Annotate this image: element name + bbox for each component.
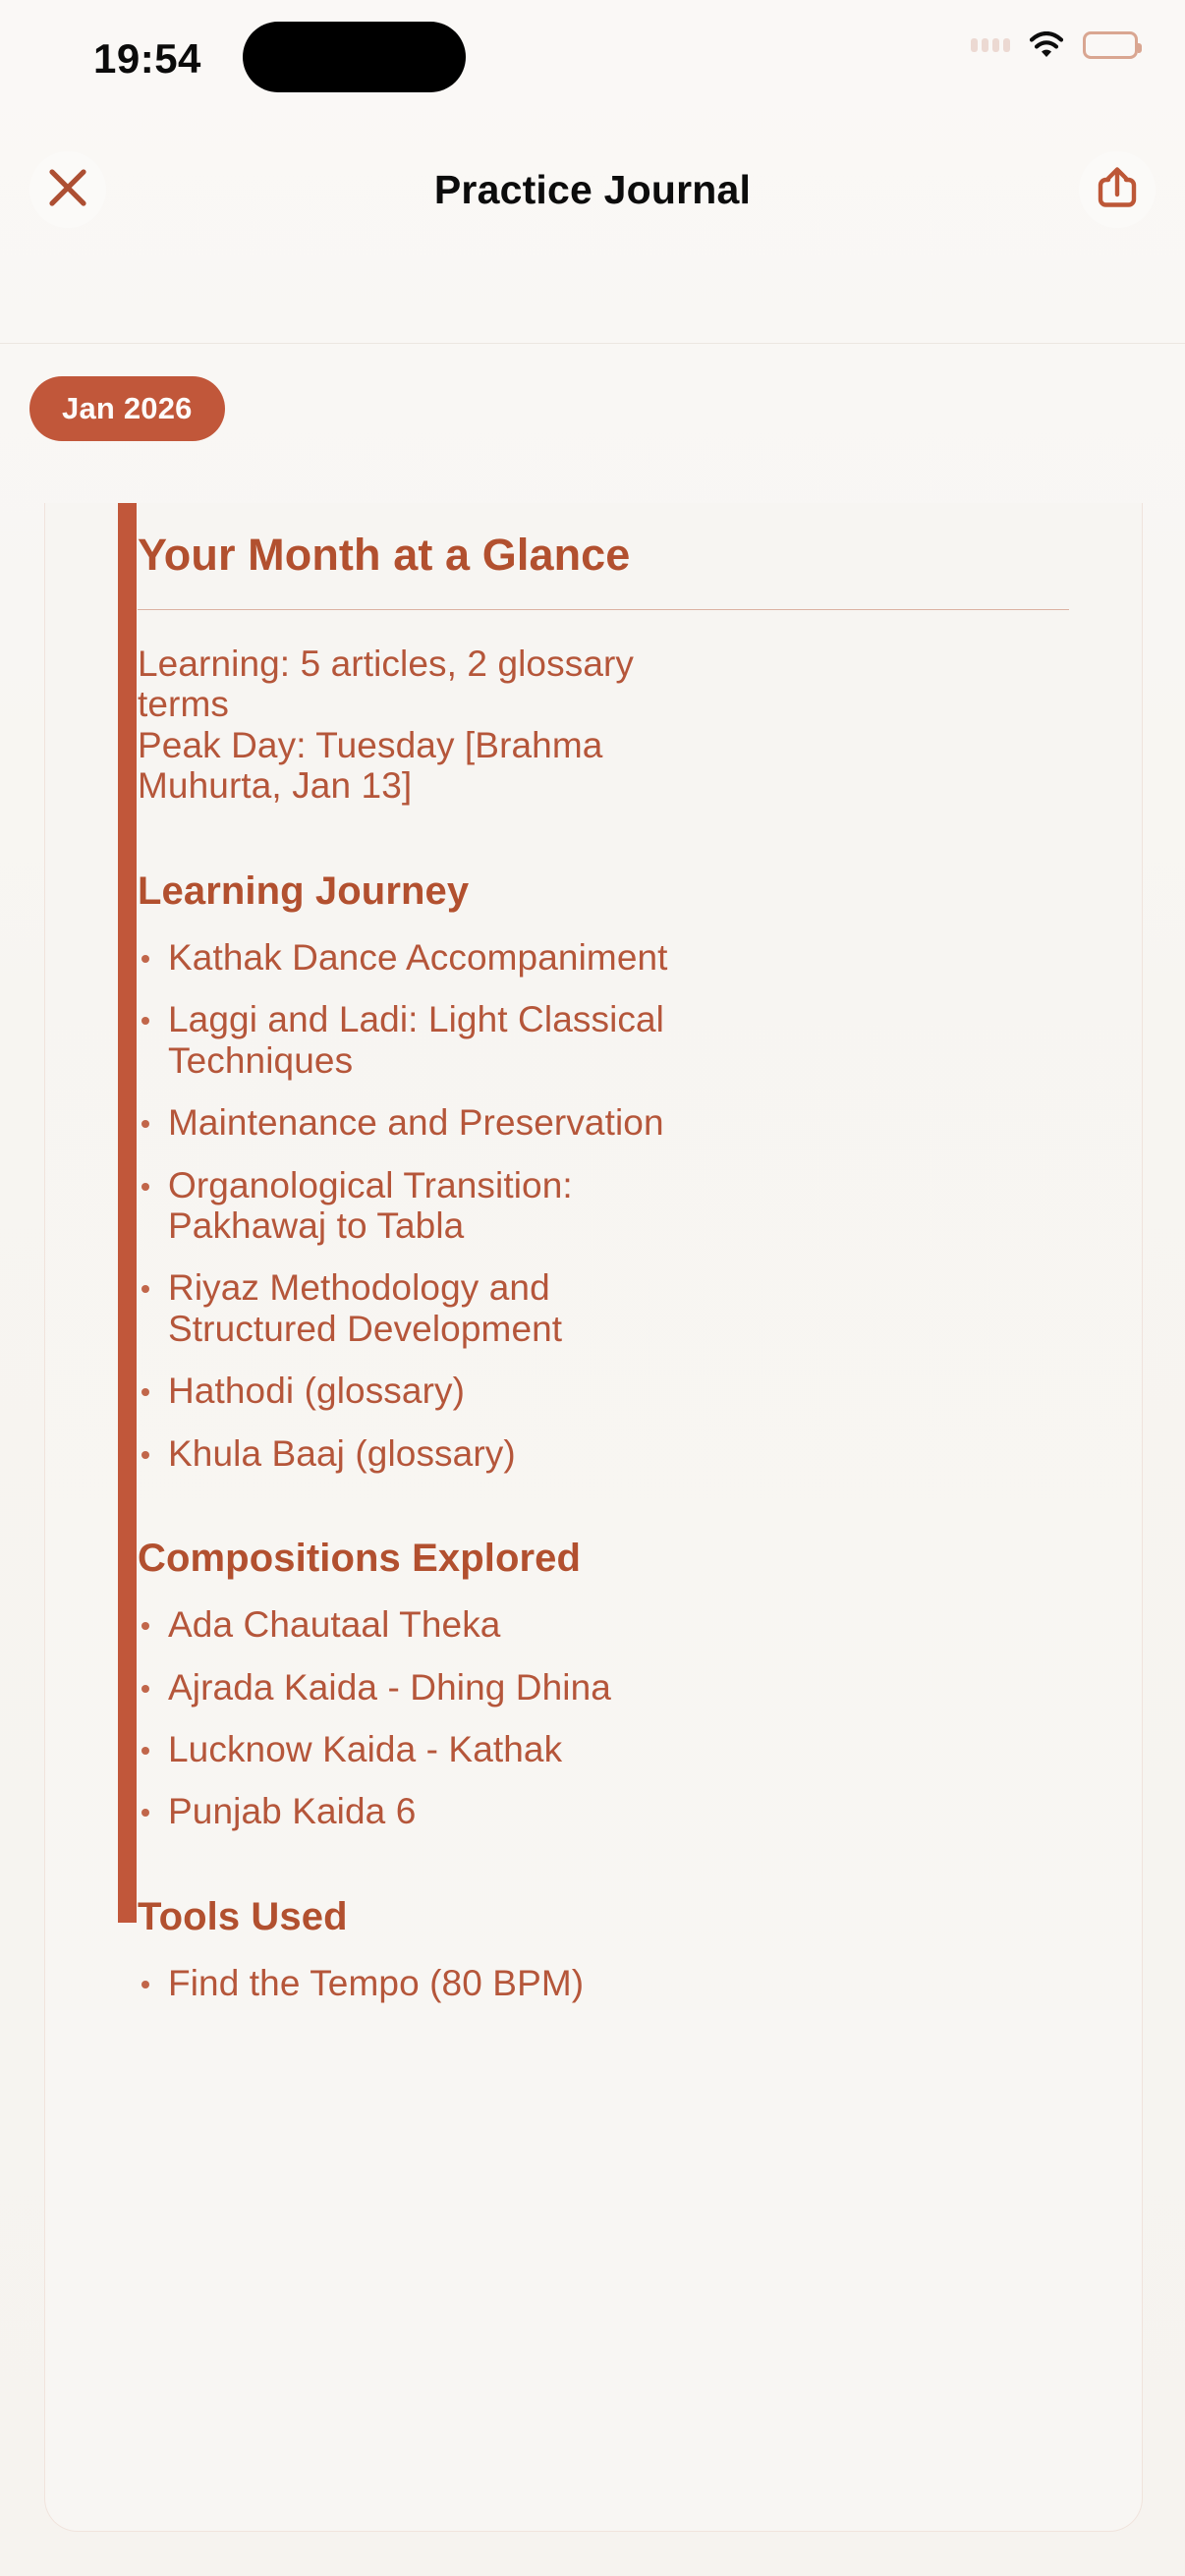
list-item[interactable]: Hathodi (glossary) (138, 1371, 668, 1411)
wifi-icon (1029, 31, 1064, 59)
list-item[interactable]: Ajrada Kaida - Dhing Dhina (138, 1667, 668, 1708)
card-meta-learning: Learning: 5 articles, 2 glossary terms (138, 644, 673, 725)
list-item[interactable]: Ada Chautaal Theka (138, 1604, 668, 1645)
journal-scroll-area[interactable]: Your Month at a Glance Learning: 5 artic… (0, 503, 1185, 2576)
app-header: Practice Journal (0, 116, 1185, 344)
list-item[interactable]: Find the Tempo (80 BPM) (138, 1963, 668, 2003)
status-indicators (971, 31, 1138, 59)
dynamic-island (243, 22, 466, 92)
signal-dots-icon (971, 38, 1010, 52)
phone-screen: 19:54 Practice Journal (0, 0, 1185, 2576)
list-item[interactable]: Punjab Kaida 6 (138, 1791, 668, 1831)
list-item[interactable]: Riyaz Methodology and Structured Develop… (138, 1267, 668, 1349)
card-accent-bar (118, 503, 137, 1923)
status-time: 19:54 (93, 35, 201, 83)
list-item[interactable]: Organological Transition: Pakhawaj to Ta… (138, 1165, 668, 1247)
list-item[interactable]: Laggi and Ladi: Light Classical Techniqu… (138, 999, 668, 1081)
list-compositions-explored: Ada Chautaal Theka Ajrada Kaida - Dhing … (138, 1604, 1099, 1832)
month-filter-row: Jan 2026 (0, 376, 1185, 445)
status-bar: 19:54 (0, 0, 1185, 116)
list-item[interactable]: Khula Baaj (glossary) (138, 1433, 668, 1474)
card-title: Your Month at a Glance (138, 530, 1099, 581)
section-title-tools-used: Tools Used (138, 1895, 1099, 1939)
month-summary-card: Your Month at a Glance Learning: 5 artic… (44, 503, 1143, 2532)
section-title-compositions-explored: Compositions Explored (138, 1537, 1099, 1581)
battery-icon (1083, 31, 1138, 59)
share-button[interactable] (1079, 151, 1156, 228)
month-filter-chip[interactable]: Jan 2026 (29, 376, 225, 441)
list-learning-journey: Kathak Dance Accompaniment Laggi and Lad… (138, 937, 1099, 1474)
section-title-learning-journey: Learning Journey (138, 869, 1099, 914)
card-meta-peak-day: Peak Day: Tuesday [Brahma Muhurta, Jan 1… (138, 725, 673, 807)
card-divider (138, 609, 1069, 610)
month-filter-label: Jan 2026 (62, 391, 193, 426)
list-item[interactable]: Maintenance and Preservation (138, 1102, 668, 1143)
list-tools-used: Find the Tempo (80 BPM) (138, 1963, 1099, 2003)
list-item[interactable]: Lucknow Kaida - Kathak (138, 1729, 668, 1769)
page-title: Practice Journal (0, 167, 1185, 213)
list-item[interactable]: Kathak Dance Accompaniment (138, 937, 668, 978)
share-icon (1095, 164, 1140, 216)
